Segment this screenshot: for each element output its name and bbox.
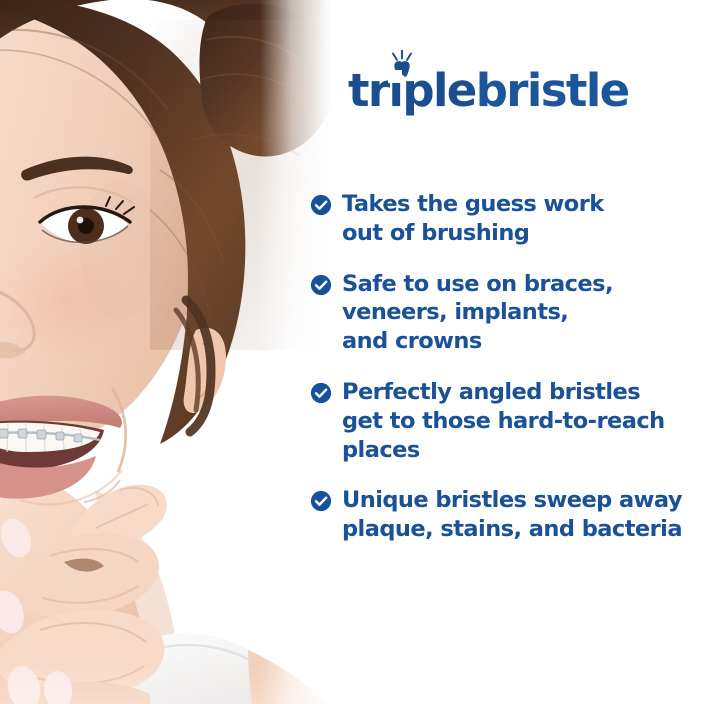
benefit-text: Perfectly angled bristles get to those h…: [342, 378, 665, 464]
check-circle-icon: [310, 274, 332, 296]
logo-word-triple: triple: [348, 64, 476, 117]
list-item: Takes the guess work out of brushing: [310, 190, 696, 248]
check-circle-icon: [310, 194, 332, 216]
benefit-text: Unique bristles sweep away plaque, stain…: [342, 486, 682, 544]
logo-word-bristle: bristle: [476, 64, 629, 117]
model-photo: [0, 0, 330, 704]
check-circle-icon: [310, 490, 332, 512]
logo-i-dot-mask: [388, 70, 402, 83]
benefit-text: Takes the guess work out of brushing: [342, 190, 604, 248]
list-item: Safe to use on braces, veneers, implants…: [310, 270, 696, 356]
list-item: Unique bristles sweep away plaque, stain…: [310, 486, 696, 544]
list-item: Perfectly angled bristles get to those h…: [310, 378, 696, 464]
promo-graphic: triplebristle Takes the guess work out o…: [0, 0, 704, 704]
benefits-list: Takes the guess work out of brushing Saf…: [310, 190, 696, 544]
model-photo-illustration: [0, 0, 330, 704]
check-circle-icon: [310, 382, 332, 404]
logo-wordmark: triplebristle: [348, 68, 629, 113]
benefit-text: Safe to use on braces, veneers, implants…: [342, 270, 613, 356]
brand-logo: triplebristle: [348, 50, 648, 112]
